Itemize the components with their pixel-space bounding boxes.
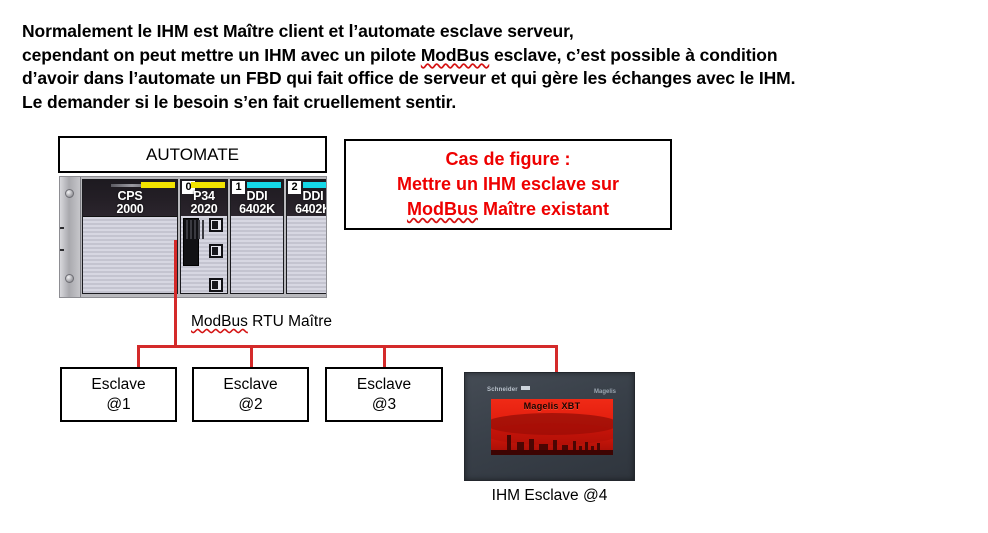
module-color-bar [141, 182, 175, 188]
skyline-ground [491, 450, 613, 455]
modbus-bus-label-rest: RTU Maître [248, 313, 332, 330]
case-line-3-after: Maître existant [478, 199, 609, 219]
case-line-3: ModBus Maître existant [407, 197, 609, 222]
cpu-led-display [183, 218, 199, 266]
slave-2-address: @2 [238, 395, 262, 415]
cpu-communication-port [209, 244, 223, 258]
rack-left-rail [60, 177, 81, 297]
hmi-skyline-graphic [491, 433, 613, 455]
case-of-figure-box: Cas de figure : Mettre un IHM esclave su… [344, 139, 672, 230]
header-paragraph: Normalement le IHM est Maître client et … [22, 20, 967, 114]
slave-box-1: Esclave @1 [60, 367, 177, 422]
rack-screw-icon [65, 274, 74, 283]
module-name-line1: CPS [117, 189, 142, 203]
hmi-screen: Magelis XBT [491, 399, 613, 455]
module-header: CPS 2000 [83, 180, 177, 216]
plc-module-ddi-6402k-slot2: 2 DDI 6402K [286, 179, 327, 294]
module-header: 1 DDI 6402K [231, 180, 283, 216]
header-line-3: d’avoir dans l’automate un FBD qui fait … [22, 67, 967, 91]
wire-plc-drop [174, 240, 177, 347]
module-name-line2: 2020 [181, 203, 227, 216]
module-name-line1: DDI [247, 189, 268, 203]
cpu-communication-port [209, 218, 223, 232]
module-name: DDI 6402K [231, 190, 283, 215]
module-body [231, 216, 283, 293]
slave-2-line1: Esclave [223, 375, 277, 395]
rack-screw-icon [65, 189, 74, 198]
case-line-3-misspelled-word: ModBus [407, 199, 478, 219]
cpu-led-indicator [194, 220, 196, 239]
slave-1-line1: Esclave [91, 375, 145, 395]
module-color-bar [247, 182, 281, 188]
slave-1-address: @1 [106, 395, 130, 415]
slave-box-3: Esclave @3 [325, 367, 443, 422]
module-body [83, 216, 177, 293]
modbus-bus-label: ModBus RTU Maître [191, 313, 332, 331]
slave-3-address: @3 [372, 395, 396, 415]
cpu-led-indicator [198, 220, 200, 239]
modbus-bus-label-misspelled-word: ModBus [191, 313, 248, 330]
wire-modbus-trunk [137, 345, 558, 348]
case-line-2: Mettre un IHM esclave sur [397, 172, 619, 197]
header-line-4: Le demander si le besoin s’en fait cruel… [22, 91, 967, 115]
header-line-1: Normalement le IHM est Maître client et … [22, 20, 967, 44]
hmi-panel-image: Schneider Magelis Magelis XBT [464, 372, 635, 481]
hmi-screen-title: Magelis XBT [491, 401, 613, 411]
cpu-led-indicator [186, 220, 188, 239]
slave-box-2: Esclave @2 [192, 367, 309, 422]
module-name: P34 2020 [181, 190, 227, 215]
plc-rack-image: CPS 2000 0 P34 2020 [59, 176, 327, 298]
schneider-logo: Schneider [487, 386, 530, 393]
cpu-led-indicator [190, 220, 192, 239]
module-body [181, 216, 227, 293]
wire-drop-slave-1 [137, 345, 140, 368]
module-name: DDI 6402K [287, 190, 327, 215]
wire-drop-slave-3 [383, 345, 386, 368]
header-line-2-after: esclave, c’est possible à condition [489, 45, 777, 65]
module-body [287, 216, 327, 293]
hmi-caption: IHM Esclave @4 [464, 487, 635, 505]
wire-drop-hmi [555, 345, 558, 373]
module-name-line2: 6402K [231, 203, 283, 216]
module-name: CPS 2000 [83, 190, 177, 215]
cpu-led-indicator [202, 220, 204, 239]
automate-label: AUTOMATE [146, 145, 239, 165]
module-color-bar [191, 182, 225, 188]
plc-module-p34-2020: 0 P34 2020 [180, 179, 228, 294]
module-name-line1: DDI [303, 189, 324, 203]
module-color-bar [303, 182, 327, 188]
magelis-brand-label: Magelis [594, 389, 616, 395]
module-name-line2: 2000 [83, 203, 177, 216]
module-header: 2 DDI 6402K [287, 180, 327, 216]
header-line-2-misspelled-word: ModBus [421, 45, 489, 65]
wire-drop-slave-2 [250, 345, 253, 368]
case-line-1: Cas de figure : [445, 147, 570, 172]
module-name-line1: P34 [193, 189, 215, 203]
header-line-2-before: cependant on peut mettre un IHM avec un … [22, 45, 421, 65]
module-header: 0 P34 2020 [181, 180, 227, 216]
module-name-line2: 6402K [287, 203, 327, 216]
automate-label-box: AUTOMATE [58, 136, 327, 173]
plc-module-ddi-6402k-slot1: 1 DDI 6402K [230, 179, 284, 294]
cpu-communication-port [209, 278, 223, 292]
header-line-2: cependant on peut mettre un IHM avec un … [22, 44, 967, 68]
slave-3-line1: Esclave [357, 375, 411, 395]
rack-clip-icon [59, 227, 64, 251]
plc-module-cps-2000: CPS 2000 [82, 179, 178, 294]
